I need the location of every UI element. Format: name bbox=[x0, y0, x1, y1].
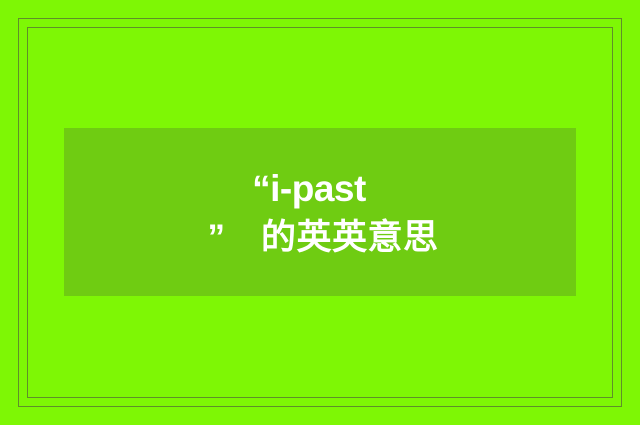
headline-line-2: ” 的英英意思 bbox=[207, 220, 438, 255]
title-panel: “i-past ” 的英英意思 bbox=[64, 128, 576, 296]
title-card: “i-past ” 的英英意思 bbox=[0, 0, 640, 425]
headline-line-1: “i-past bbox=[252, 170, 366, 207]
headline-text-block: “i-past ” 的英英意思 bbox=[64, 128, 576, 296]
